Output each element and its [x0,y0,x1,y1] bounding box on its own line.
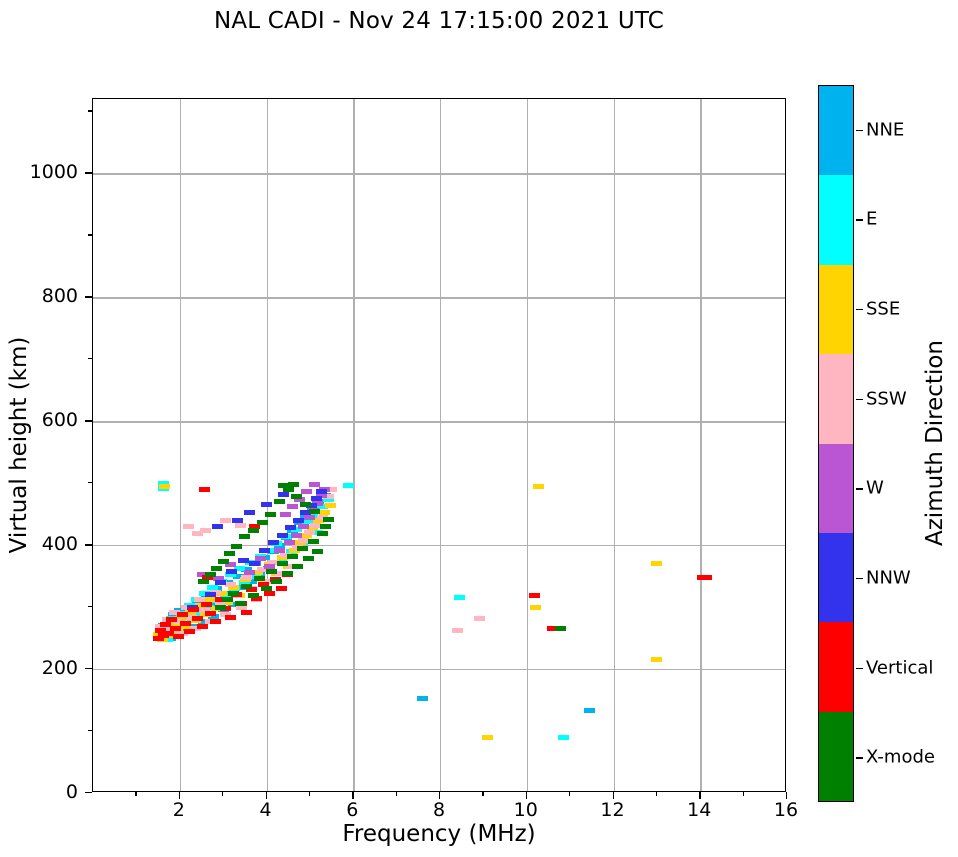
data-point [452,628,463,633]
x-tick-minor [656,792,657,796]
data-point [529,593,540,598]
x-tick [266,792,267,799]
data-point [558,735,569,740]
data-point [244,570,255,575]
data-point [241,584,252,589]
data-point [218,559,229,564]
data-point [238,558,249,563]
data-point [308,539,319,544]
y-tick [85,296,92,297]
x-tick-minor [396,792,397,796]
colorbar-label-nne: NNE [866,119,904,140]
y-tick-minor [88,730,92,731]
x-tick-label: 10 [514,799,538,821]
data-point [287,554,298,559]
colorbar-tick [856,668,863,669]
data-point [293,518,304,523]
y-tick [85,668,92,669]
colorbar-title: Azimuth Direction [922,340,948,546]
colorbar-label-vertical: Vertical [866,657,933,678]
data-point [301,489,312,494]
colorbar-segment-vertical[interactable] [819,622,853,711]
x-tick-minor [743,792,744,796]
y-tick-minor [88,110,92,111]
data-point [277,533,288,538]
data-point [323,517,334,522]
y-tick [85,544,92,545]
data-point [159,484,170,489]
data-point [232,518,243,523]
x-tick-minor [482,792,483,796]
data-point [320,524,331,529]
y-tick-minor [88,482,92,483]
data-point [277,561,288,566]
data-point [297,546,308,551]
data-point [231,544,242,549]
data-point [271,579,282,584]
colorbar-tick [856,578,863,579]
data-point [651,657,662,662]
data-point [244,510,255,515]
data-point [261,502,272,507]
data-point [291,494,302,499]
x-tick-label: 16 [774,799,798,821]
colorbar-tick [856,130,863,131]
data-point [239,534,250,539]
data-point [533,484,544,489]
data-point [215,580,226,585]
x-tick [786,792,787,799]
y-tick-minor [88,606,92,607]
colorbar-segment-nnw[interactable] [819,533,853,622]
data-point [257,520,268,525]
ionogram-figure: NAL CADI - Nov 24 17:15:00 2021 UTC 2468… [0,0,958,857]
colorbar-segment-ssw[interactable] [819,354,853,443]
colorbar-label-e: E [866,209,877,230]
data-point [166,617,177,622]
data-point [225,582,236,587]
data-point [248,593,259,598]
data-point [274,499,285,504]
data-point [278,492,289,497]
data-point [309,509,320,514]
data-point [210,619,221,624]
data-point [555,626,566,631]
x-tick [526,792,527,799]
data-point [265,512,276,517]
y-tick-minor [88,234,92,235]
data-point [180,621,191,626]
gridline-vertical [267,99,268,791]
data-point [343,483,354,488]
data-point [215,605,226,610]
x-tick-label: 12 [600,799,624,821]
data-point [285,525,296,530]
colorbar-tick [856,488,863,489]
x-tick-minor [309,792,310,796]
colorbar-tick [856,399,863,400]
data-point [325,503,336,508]
data-point [205,611,216,616]
data-point [278,483,289,488]
colorbar-segment-x-mode[interactable] [819,712,853,801]
data-point [417,696,428,701]
data-point [309,482,320,487]
x-tick-label: 2 [173,799,185,821]
y-tick-label: 600 [42,409,78,431]
data-point [241,575,252,580]
data-point [261,586,272,591]
data-point [228,591,239,596]
data-point [264,591,275,596]
data-point [184,629,195,634]
data-point [170,626,181,631]
data-point [482,735,493,740]
colorbar-label-x-mode: X-mode [866,747,935,768]
data-point [235,601,246,606]
y-tick-minor [88,358,92,359]
y-tick [85,792,92,793]
data-point [268,540,279,545]
y-tick-label: 400 [42,533,78,555]
y-tick [85,172,92,173]
data-point [454,595,465,600]
x-tick-minor [222,792,223,796]
data-point [211,566,222,571]
data-point [163,631,174,636]
colorbar-label-w: W [866,478,884,499]
data-point [316,489,327,494]
data-point [205,592,216,597]
gridline-horizontal [93,421,785,422]
data-point [304,530,315,535]
data-point [188,607,199,612]
gridline-vertical [614,99,615,791]
data-point [205,572,216,577]
data-point [530,605,541,610]
gridline-vertical [353,99,354,791]
y-tick [85,420,92,421]
x-tick [439,792,440,799]
data-point [241,610,252,615]
data-point [280,512,291,517]
page-title: NAL CADI - Nov 24 17:15:00 2021 UTC [0,8,878,34]
data-point [249,561,260,566]
x-tick [699,792,700,799]
colorbar-tick [856,219,863,220]
data-point [474,616,485,621]
data-point [224,551,235,556]
data-point [177,612,188,617]
data-point [226,569,237,574]
colorbar-label-ssw: SSW [866,388,907,409]
x-tick-minor [135,792,136,796]
data-point [274,548,285,553]
y-tick-label: 1000 [30,161,78,183]
colorbar-segment-e[interactable] [819,175,853,264]
gridline-horizontal [93,545,785,546]
gridline-vertical [527,99,528,791]
data-point [298,524,309,529]
data-point [248,528,259,533]
x-axis-label: Frequency (MHz) [92,821,786,847]
gridline-horizontal [93,669,785,670]
x-tick-label: 8 [433,799,445,821]
data-point [200,528,211,533]
data-point [198,579,209,584]
x-tick [613,792,614,799]
data-point [288,482,299,487]
data-point [266,569,277,574]
colorbar-segment-nne[interactable] [819,86,853,175]
gridline-horizontal [93,297,785,298]
x-tick-minor [569,792,570,796]
data-point [183,524,194,529]
x-tick-label: 4 [259,799,271,821]
x-tick [179,792,180,799]
x-tick [352,792,353,799]
colorbar-tick [856,309,863,310]
data-point [287,504,298,509]
data-point [317,531,328,536]
y-tick-label: 200 [42,657,78,679]
data-point [292,564,303,569]
data-point [192,616,203,621]
data-point [291,533,302,538]
gridline-horizontal [93,173,785,174]
colorbar[interactable] [818,85,854,802]
colorbar-label-sse: SSE [866,299,900,320]
data-point [220,518,231,523]
data-point [173,634,184,639]
colorbar-segment-sse[interactable] [819,265,853,354]
gridline-vertical [440,99,441,791]
colorbar-tick [856,757,863,758]
data-point [222,597,233,602]
y-axis-label: Virtual height (km) [6,337,32,554]
y-tick-label: 0 [66,781,78,803]
data-point [235,523,246,528]
data-point [584,708,595,713]
data-point [212,524,223,529]
gridline-vertical [180,99,181,791]
data-point [304,515,315,520]
y-tick-label: 800 [42,285,78,307]
gridline-vertical [700,99,701,791]
colorbar-segment-w[interactable] [819,444,853,533]
data-point [284,540,295,545]
data-point [197,624,208,629]
data-point [300,502,311,507]
data-point [312,549,323,554]
data-point [225,615,236,620]
data-point [276,586,287,591]
data-point [199,487,210,492]
data-point [259,548,270,553]
data-point [303,556,314,561]
data-point [282,571,293,576]
data-point [311,496,322,501]
data-point [201,602,212,607]
x-tick-label: 6 [346,799,358,821]
colorbar-label-nnw: NNW [866,567,911,588]
plot-area [92,98,786,792]
data-point [254,576,265,581]
data-point [701,575,712,580]
x-tick-label: 14 [687,799,711,821]
data-point [651,561,662,566]
